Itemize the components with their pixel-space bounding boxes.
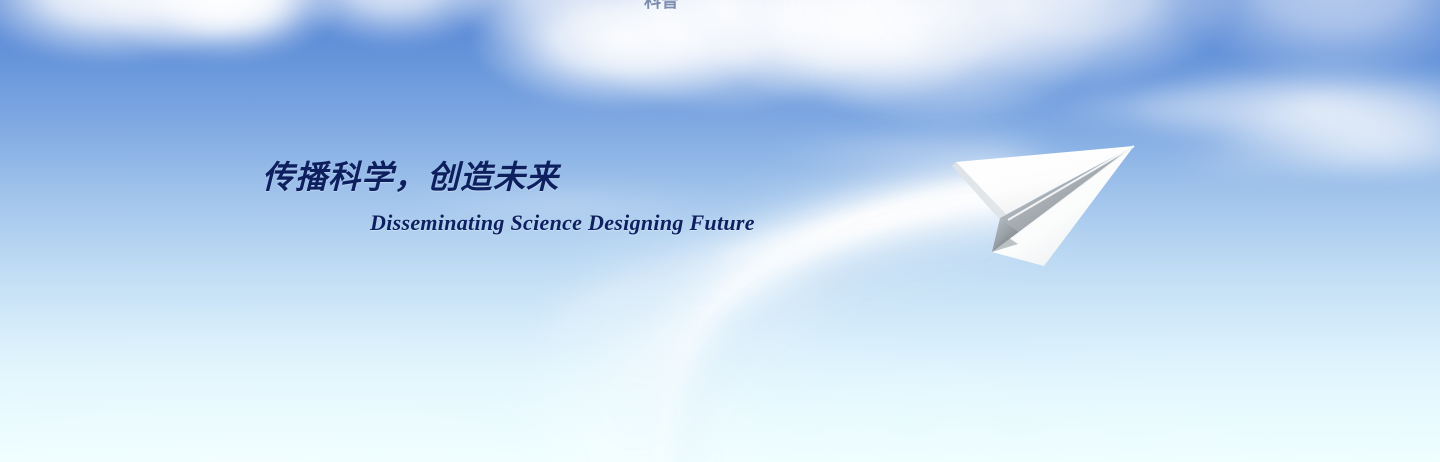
clipped-top-text: 科普 xyxy=(644,0,679,12)
slogan-chinese: 传播科学，创造未来 xyxy=(262,152,559,198)
paper-airplane-icon xyxy=(948,140,1148,276)
slogan-english: Disseminating Science Designing Future xyxy=(370,210,755,236)
sky-hero-banner: 科普 传播科学，创造未来 Disseminating Science Desig… xyxy=(0,0,1440,462)
